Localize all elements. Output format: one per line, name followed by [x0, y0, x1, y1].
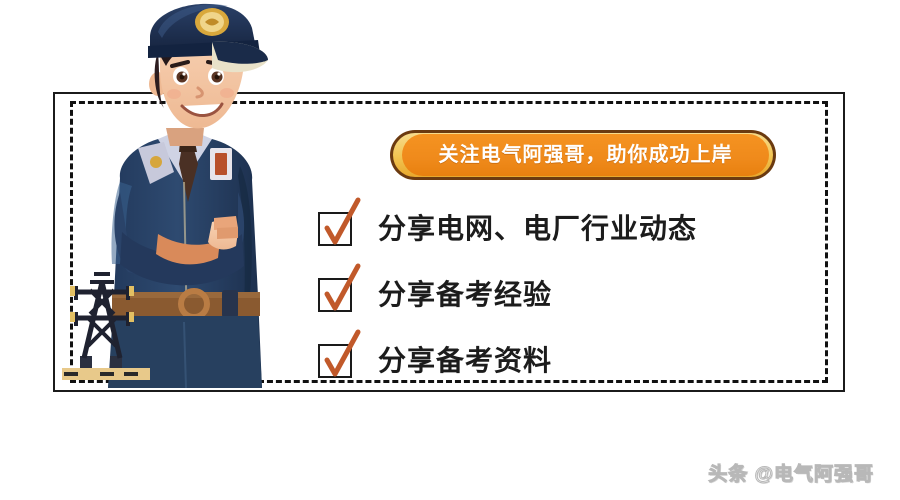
- benefits-checklist: 分享电网、电厂行业动态 分享备考经验 分享备考资料: [318, 196, 818, 394]
- checkmark-icon[interactable]: [318, 344, 352, 378]
- checkmark-icon[interactable]: [318, 212, 352, 246]
- checklist-item[interactable]: 分享备考资料: [318, 328, 818, 394]
- content-column: 关注电气阿强哥，助你成功上岸 分享电网、电厂行业动态 分享备考经: [318, 120, 818, 380]
- worker-body: [108, 128, 262, 388]
- power-worker-illustration: [62, 0, 302, 390]
- watermark: 头条 @电气阿强哥: [708, 459, 874, 486]
- banner-text: 关注电气阿强哥，助你成功上岸: [439, 145, 733, 165]
- checkmark-icon[interactable]: [318, 278, 352, 312]
- checklist-item-label: 分享备考资料: [378, 347, 552, 375]
- banner-fill: 关注电气阿强哥，助你成功上岸: [402, 134, 769, 176]
- poster-canvas: 关注电气阿强哥，助你成功上岸 分享电网、电厂行业动态 分享备考经: [0, 0, 900, 500]
- checklist-item-label: 分享电网、电厂行业动态: [378, 215, 697, 243]
- checklist-item[interactable]: 分享备考经验: [318, 262, 818, 328]
- checklist-item-label: 分享备考经验: [378, 281, 552, 309]
- checklist-item[interactable]: 分享电网、电厂行业动态: [318, 196, 818, 262]
- follow-banner[interactable]: 关注电气阿强哥，助你成功上岸: [390, 130, 776, 180]
